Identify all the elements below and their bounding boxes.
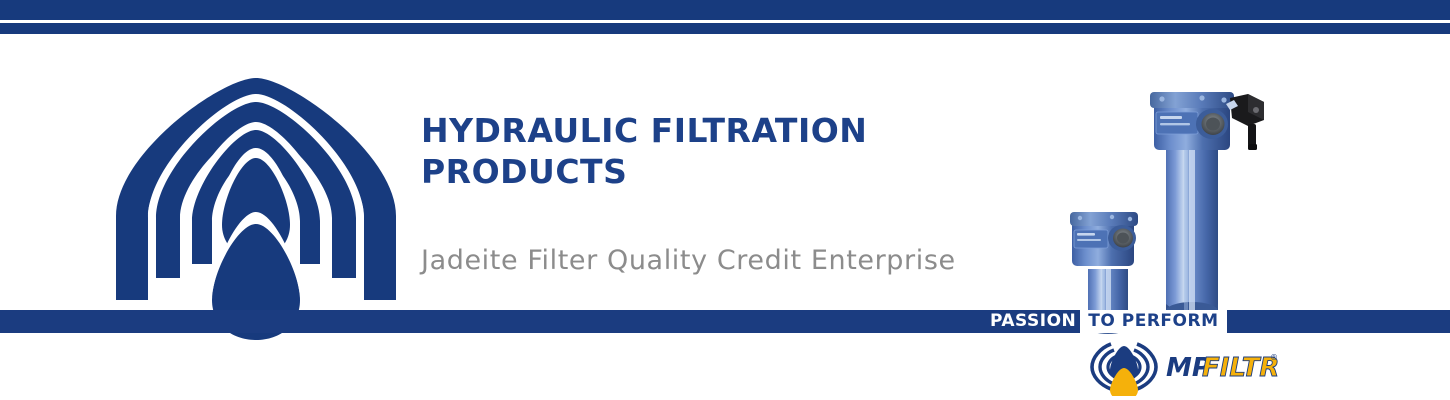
banner-body: HYDRAULIC FILTRATION PRODUCTS Jadeite Fi…: [0, 34, 1450, 310]
tagline-plain-box: TO PERFORM: [1080, 310, 1226, 333]
headline-block: HYDRAULIC FILTRATION PRODUCTS: [421, 110, 1041, 192]
water-droplet-rings-emblem: [116, 78, 396, 340]
tagline-to-perform: TO PERFORM: [1088, 310, 1218, 333]
banner-subheadline: Jadeite Filter Quality Credit Enterprise: [421, 245, 956, 276]
mpfiltri-mark: [1092, 344, 1156, 396]
registered-trademark-icon: ®: [1270, 353, 1278, 362]
top-accent-bar-primary: [0, 0, 1450, 20]
bottom-accent-bar: [0, 310, 1450, 333]
mpfiltri-brand-logo: MP FILTRI ®: [1078, 336, 1278, 396]
banner-headline: HYDRAULIC FILTRATION PRODUCTS: [421, 110, 1041, 192]
tagline-passion: PASSION: [990, 310, 1080, 333]
tagline: PASSION TO PERFORM: [990, 310, 1227, 333]
hydraulic-filter-housings-photo: [1062, 64, 1312, 344]
brand-word-filtri: FILTRI: [1202, 353, 1278, 383]
top-accent-bar-secondary: [0, 23, 1450, 34]
